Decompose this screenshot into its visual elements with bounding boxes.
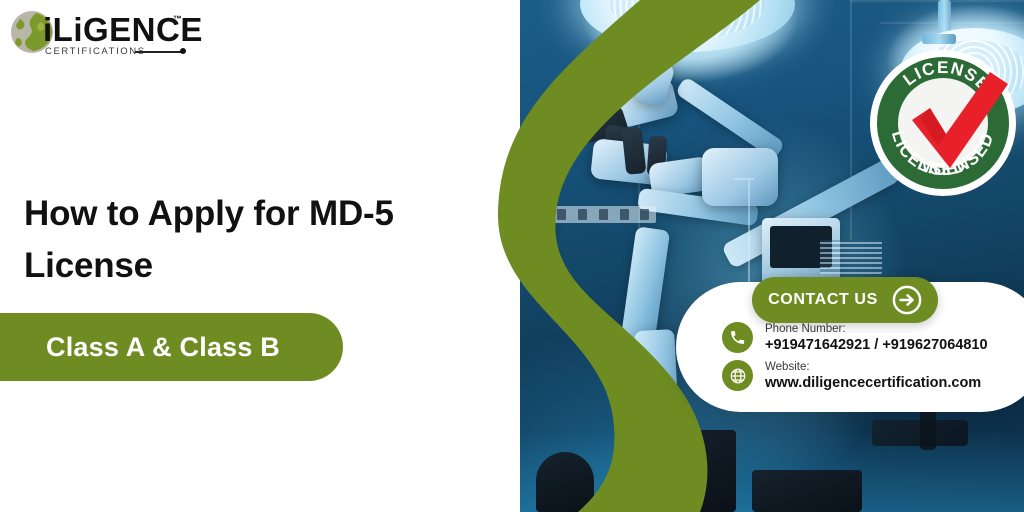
logo-rule <box>135 51 183 53</box>
contact-us-button[interactable]: CONTACT US <box>752 277 938 323</box>
website-value[interactable]: www.diligencecertification.com <box>765 374 981 393</box>
logo-tagline: CERTIFICATIONS <box>45 46 146 57</box>
brand-logo[interactable]: iLiGENCE ™ CERTIFICATIONS <box>10 8 200 60</box>
arrow-right-circle-icon <box>892 285 922 315</box>
globe-icon <box>722 360 753 391</box>
website-label: Website: <box>765 360 981 374</box>
phone-label: Phone Number: <box>765 322 988 336</box>
logo-dot <box>180 48 186 54</box>
phone-value[interactable]: +919471642921 / +919627064810 <box>765 336 988 355</box>
promotional-banner: iLiGENCE ™ CERTIFICATIONS How to Apply f… <box>0 0 1024 512</box>
logo-trademark: ™ <box>173 14 182 24</box>
contact-row-phone: Phone Number: +919471642921 / +919627064… <box>722 322 988 355</box>
phone-icon <box>722 322 753 353</box>
contact-row-website: Website: www.diligencecertification.com <box>722 360 981 393</box>
class-badge-label: Class A & Class B <box>46 332 280 363</box>
class-badge: Class A & Class B <box>0 313 343 381</box>
contact-us-label: CONTACT US <box>768 291 878 309</box>
licensed-seal-icon: LICENSED LICENSED LICENSED <box>868 48 1018 198</box>
page-title: How to Apply for MD-5 License <box>24 188 484 292</box>
